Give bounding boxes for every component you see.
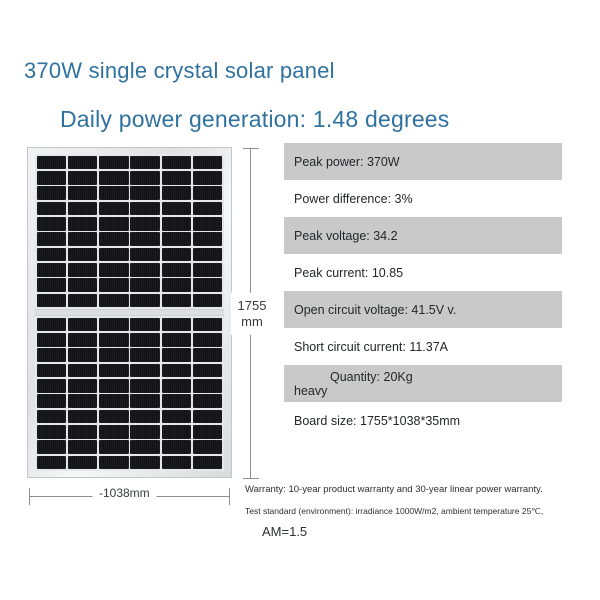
solar-cell bbox=[193, 440, 223, 454]
solar-cell bbox=[193, 248, 223, 262]
solar-cell bbox=[193, 263, 223, 277]
solar-cell bbox=[99, 171, 129, 185]
solar-cell bbox=[130, 171, 160, 185]
solar-cell bbox=[130, 294, 160, 308]
solar-cell bbox=[99, 232, 129, 246]
solar-cell bbox=[37, 364, 67, 378]
solar-cell bbox=[68, 333, 98, 347]
spec-row-board-size: Board size: 1755*1038*35mm bbox=[284, 402, 562, 439]
solar-cell bbox=[162, 456, 192, 470]
solar-cell bbox=[68, 217, 98, 231]
solar-cell bbox=[99, 318, 129, 332]
solar-cell bbox=[99, 278, 129, 292]
solar-cell bbox=[130, 217, 160, 231]
dimension-height: 1755 mm bbox=[243, 148, 259, 479]
solar-cell bbox=[99, 156, 129, 170]
solar-cell bbox=[37, 456, 67, 470]
solar-cell bbox=[37, 410, 67, 424]
spec-row: Open circuit voltage: 41.5V v. bbox=[284, 291, 562, 328]
spec-row: Peak current: 10.85 bbox=[284, 254, 562, 291]
solar-cell bbox=[99, 348, 129, 362]
solar-cell bbox=[162, 217, 192, 231]
solar-cell bbox=[37, 425, 67, 439]
solar-cell bbox=[193, 156, 223, 170]
solar-cell bbox=[162, 425, 192, 439]
note-test-standard: Test standard (environment): irradiance … bbox=[245, 506, 543, 517]
solar-cell bbox=[193, 394, 223, 408]
solar-cell bbox=[193, 294, 223, 308]
solar-cell bbox=[68, 318, 98, 332]
solar-cell bbox=[130, 379, 160, 393]
solar-cell bbox=[37, 217, 67, 231]
solar-cell bbox=[130, 333, 160, 347]
spec-row: Power difference: 3% bbox=[284, 180, 562, 217]
solar-cell bbox=[162, 278, 192, 292]
solar-cell bbox=[37, 171, 67, 185]
solar-cell bbox=[162, 263, 192, 277]
spec-row: Peak voltage: 34.2 bbox=[284, 217, 562, 254]
solar-cell bbox=[193, 348, 223, 362]
solar-cell bbox=[162, 171, 192, 185]
solar-cell bbox=[37, 202, 67, 216]
solar-cell bbox=[99, 217, 129, 231]
solar-cell bbox=[193, 217, 223, 231]
solar-cell bbox=[68, 263, 98, 277]
solar-cell bbox=[162, 202, 192, 216]
solar-cell bbox=[193, 232, 223, 246]
solar-cell bbox=[193, 410, 223, 424]
solar-cell bbox=[162, 394, 192, 408]
solar-cell bbox=[162, 379, 192, 393]
solar-cell bbox=[99, 456, 129, 470]
solar-cell bbox=[130, 456, 160, 470]
solar-cell bbox=[99, 333, 129, 347]
solar-cell bbox=[193, 364, 223, 378]
solar-cell bbox=[37, 263, 67, 277]
panel-cell-grid-top bbox=[35, 154, 224, 309]
solar-cell bbox=[162, 348, 192, 362]
solar-cell bbox=[162, 364, 192, 378]
solar-cell bbox=[99, 440, 129, 454]
solar-cell bbox=[68, 394, 98, 408]
solar-cell bbox=[99, 394, 129, 408]
spec-row-text: Peak current: 10.85 bbox=[294, 266, 403, 280]
solar-cell bbox=[162, 232, 192, 246]
solar-cell bbox=[68, 364, 98, 378]
panel-frame bbox=[27, 147, 232, 478]
solar-cell bbox=[162, 186, 192, 200]
solar-cell bbox=[68, 379, 98, 393]
solar-cell bbox=[37, 379, 67, 393]
solar-cell bbox=[37, 232, 67, 246]
solar-cell bbox=[99, 294, 129, 308]
solar-cell bbox=[162, 248, 192, 262]
page-title: 370W single crystal solar panel bbox=[24, 58, 335, 84]
solar-cell bbox=[68, 171, 98, 185]
dimension-width: -1038mm bbox=[29, 487, 230, 505]
solar-cell bbox=[68, 248, 98, 262]
solar-cell bbox=[162, 318, 192, 332]
solar-cell bbox=[193, 171, 223, 185]
spec-row: Short circuit current: 11.37A bbox=[284, 328, 562, 365]
spec-board-size-text: Board size: 1755*1038*35mm bbox=[294, 414, 460, 428]
solar-cell bbox=[68, 278, 98, 292]
solar-cell bbox=[37, 318, 67, 332]
solar-cell bbox=[68, 425, 98, 439]
solar-cell bbox=[162, 294, 192, 308]
solar-cell bbox=[37, 394, 67, 408]
product-spec-infographic: 370W single crystal solar panel Daily po… bbox=[0, 0, 600, 600]
solar-cell bbox=[68, 456, 98, 470]
solar-cell bbox=[37, 333, 67, 347]
solar-cell bbox=[68, 232, 98, 246]
spec-quantity-text: Quantity: 20Kg bbox=[330, 370, 413, 384]
spec-row-quantity: Quantity: 20Kgheavy bbox=[284, 365, 562, 402]
note-air-mass: AM=1.5 bbox=[262, 524, 307, 539]
dimension-height-value: 1755 bbox=[231, 297, 273, 313]
solar-cell bbox=[130, 364, 160, 378]
solar-cell bbox=[162, 410, 192, 424]
solar-cell bbox=[130, 186, 160, 200]
note-warranty: Warranty: 10-year product warranty and 3… bbox=[245, 484, 543, 495]
solar-cell bbox=[99, 186, 129, 200]
solar-cell bbox=[99, 425, 129, 439]
solar-cell bbox=[37, 278, 67, 292]
spec-heavy-text: heavy bbox=[294, 384, 327, 398]
panel-busbar-gap bbox=[35, 309, 224, 316]
page-subtitle: Daily power generation: 1.48 degrees bbox=[60, 106, 450, 133]
solar-cell bbox=[130, 410, 160, 424]
spec-row-text: Peak power: 370W bbox=[294, 155, 400, 169]
solar-cell bbox=[130, 263, 160, 277]
solar-cell bbox=[193, 278, 223, 292]
specification-list: Peak power: 370WPower difference: 3%Peak… bbox=[284, 143, 562, 439]
dimension-height-tick-top bbox=[243, 148, 259, 149]
dimension-width-label: -1038mm bbox=[92, 486, 157, 500]
solar-cell bbox=[130, 318, 160, 332]
solar-cell bbox=[193, 379, 223, 393]
dimension-width-tick-right bbox=[229, 488, 230, 505]
solar-cell bbox=[193, 425, 223, 439]
solar-cell bbox=[37, 294, 67, 308]
panel-cell-grid-bottom bbox=[35, 316, 224, 471]
solar-cell bbox=[99, 364, 129, 378]
dimension-height-label: 1755 mm bbox=[231, 292, 273, 335]
solar-cell bbox=[99, 263, 129, 277]
panel-laminate bbox=[35, 154, 224, 471]
solar-cell bbox=[162, 440, 192, 454]
solar-cell bbox=[37, 348, 67, 362]
solar-cell bbox=[68, 186, 98, 200]
spec-row-text: Open circuit voltage: 41.5V v. bbox=[294, 303, 456, 317]
spec-row-text: Short circuit current: 11.37A bbox=[294, 340, 448, 354]
solar-cell bbox=[130, 232, 160, 246]
solar-cell bbox=[130, 348, 160, 362]
solar-cell bbox=[193, 318, 223, 332]
solar-cell bbox=[193, 186, 223, 200]
dimension-height-tick-bottom bbox=[243, 478, 259, 479]
solar-cell bbox=[193, 333, 223, 347]
solar-cell bbox=[68, 156, 98, 170]
solar-cell bbox=[68, 440, 98, 454]
dimension-height-unit: mm bbox=[231, 314, 273, 330]
solar-cell bbox=[37, 156, 67, 170]
solar-cell bbox=[37, 248, 67, 262]
solar-cell bbox=[68, 202, 98, 216]
solar-cell bbox=[193, 456, 223, 470]
solar-panel-image bbox=[27, 147, 232, 478]
solar-cell bbox=[130, 202, 160, 216]
solar-cell bbox=[130, 425, 160, 439]
solar-cell bbox=[130, 394, 160, 408]
dimension-width-tick-left bbox=[29, 488, 30, 505]
solar-cell bbox=[37, 440, 67, 454]
spec-row: Peak power: 370W bbox=[284, 143, 562, 180]
solar-cell bbox=[99, 410, 129, 424]
solar-cell bbox=[193, 202, 223, 216]
solar-cell bbox=[162, 333, 192, 347]
solar-cell bbox=[99, 248, 129, 262]
solar-cell bbox=[68, 294, 98, 308]
spec-row-text: Power difference: 3% bbox=[294, 192, 413, 206]
solar-cell bbox=[68, 410, 98, 424]
solar-cell bbox=[130, 248, 160, 262]
solar-cell bbox=[68, 348, 98, 362]
solar-cell bbox=[130, 156, 160, 170]
solar-cell bbox=[130, 440, 160, 454]
solar-cell bbox=[37, 186, 67, 200]
solar-cell bbox=[162, 156, 192, 170]
solar-cell bbox=[99, 379, 129, 393]
spec-row-text: Peak voltage: 34.2 bbox=[294, 229, 398, 243]
solar-cell bbox=[99, 202, 129, 216]
solar-cell bbox=[130, 278, 160, 292]
